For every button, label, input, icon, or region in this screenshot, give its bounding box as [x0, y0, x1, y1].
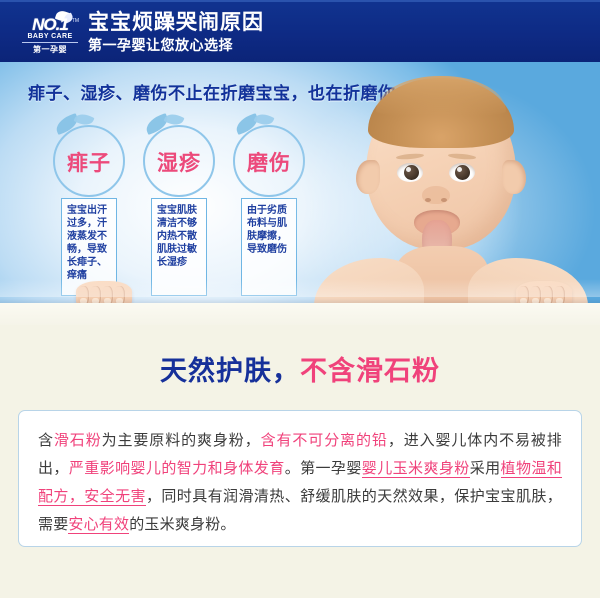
brand-logo: NO.1 TM BABY CARE 第一孕婴 [20, 10, 80, 56]
page-header: NO.1 TM BABY CARE 第一孕婴 宝宝烦躁哭闹原因 第一孕婴让您放心… [0, 0, 600, 62]
logo-divider [22, 42, 78, 43]
section-title-part2: 不含滑石粉 [300, 356, 440, 386]
baby-photo [318, 68, 586, 325]
baby-nostril-left [425, 198, 431, 202]
paragraph-segment-6: 。第一孕婴 [285, 460, 362, 477]
paragraph-segment-7: 婴儿玉米爽身粉 [362, 460, 470, 478]
paragraph-segment-1: 滑石粉 [54, 432, 102, 449]
symptom-detail-1: 宝宝肌肤清洁不够内热不散肌肤过敏长湿疹 [151, 198, 207, 296]
paragraph-segment-3: 含有不可分离的铅 [261, 432, 388, 449]
trademark-icon: TM [72, 18, 79, 24]
description-box: 含滑石粉为主要原料的爽身粉，含有不可分离的铅，进入婴儿体内不易被排出，严重影响婴… [18, 410, 582, 547]
info-section: 天然护肤，不含滑石粉 含滑石粉为主要原料的爽身粉，含有不可分离的铅，进入婴儿体内… [0, 325, 600, 598]
page-title: 宝宝烦躁哭闹原因 [88, 11, 264, 35]
white-board [0, 303, 600, 325]
paragraph-segment-11: 安心有效 [68, 516, 129, 534]
logo-chinese-text: 第一孕婴 [20, 44, 80, 55]
paragraph-segment-0: 含 [38, 432, 54, 449]
page-subtitle: 第一孕婴让您放心选择 [88, 37, 233, 54]
symptom-label-0: 痱子 [53, 147, 125, 177]
baby-eye-glint-right [457, 167, 462, 172]
section-title-part1: 天然护肤， [160, 356, 300, 386]
paragraph-segment-12: 的玉米爽身粉。 [129, 516, 235, 533]
description-paragraph: 含滑石粉为主要原料的爽身粉，含有不可分离的铅，进入婴儿体内不易被排出，严重影响婴… [38, 427, 562, 539]
baby-ear-left [356, 160, 380, 194]
paragraph-segment-8: 采用 [470, 460, 501, 477]
symptom-label-1: 湿疹 [143, 147, 215, 177]
baby-ear-right [502, 160, 526, 194]
baby-nostril-right [441, 198, 447, 202]
baby-eye-glint-left [406, 167, 411, 172]
hero-section: 痱子、湿疹、磨伤不止在折磨宝宝，也在折磨你 痱子 湿疹 磨伤 宝宝出汗过多，汗液… [0, 62, 600, 325]
paragraph-segment-5: 严重影响婴儿的智力和身体发育 [69, 460, 285, 477]
paragraph-segment-2: 为主要原料的爽身粉， [102, 432, 261, 449]
section-title: 天然护肤，不含滑石粉 [0, 355, 600, 387]
promo-page: NO.1 TM BABY CARE 第一孕婴 宝宝烦躁哭闹原因 第一孕婴让您放心… [0, 0, 600, 598]
logo-english-text: BABY CARE [20, 33, 80, 40]
